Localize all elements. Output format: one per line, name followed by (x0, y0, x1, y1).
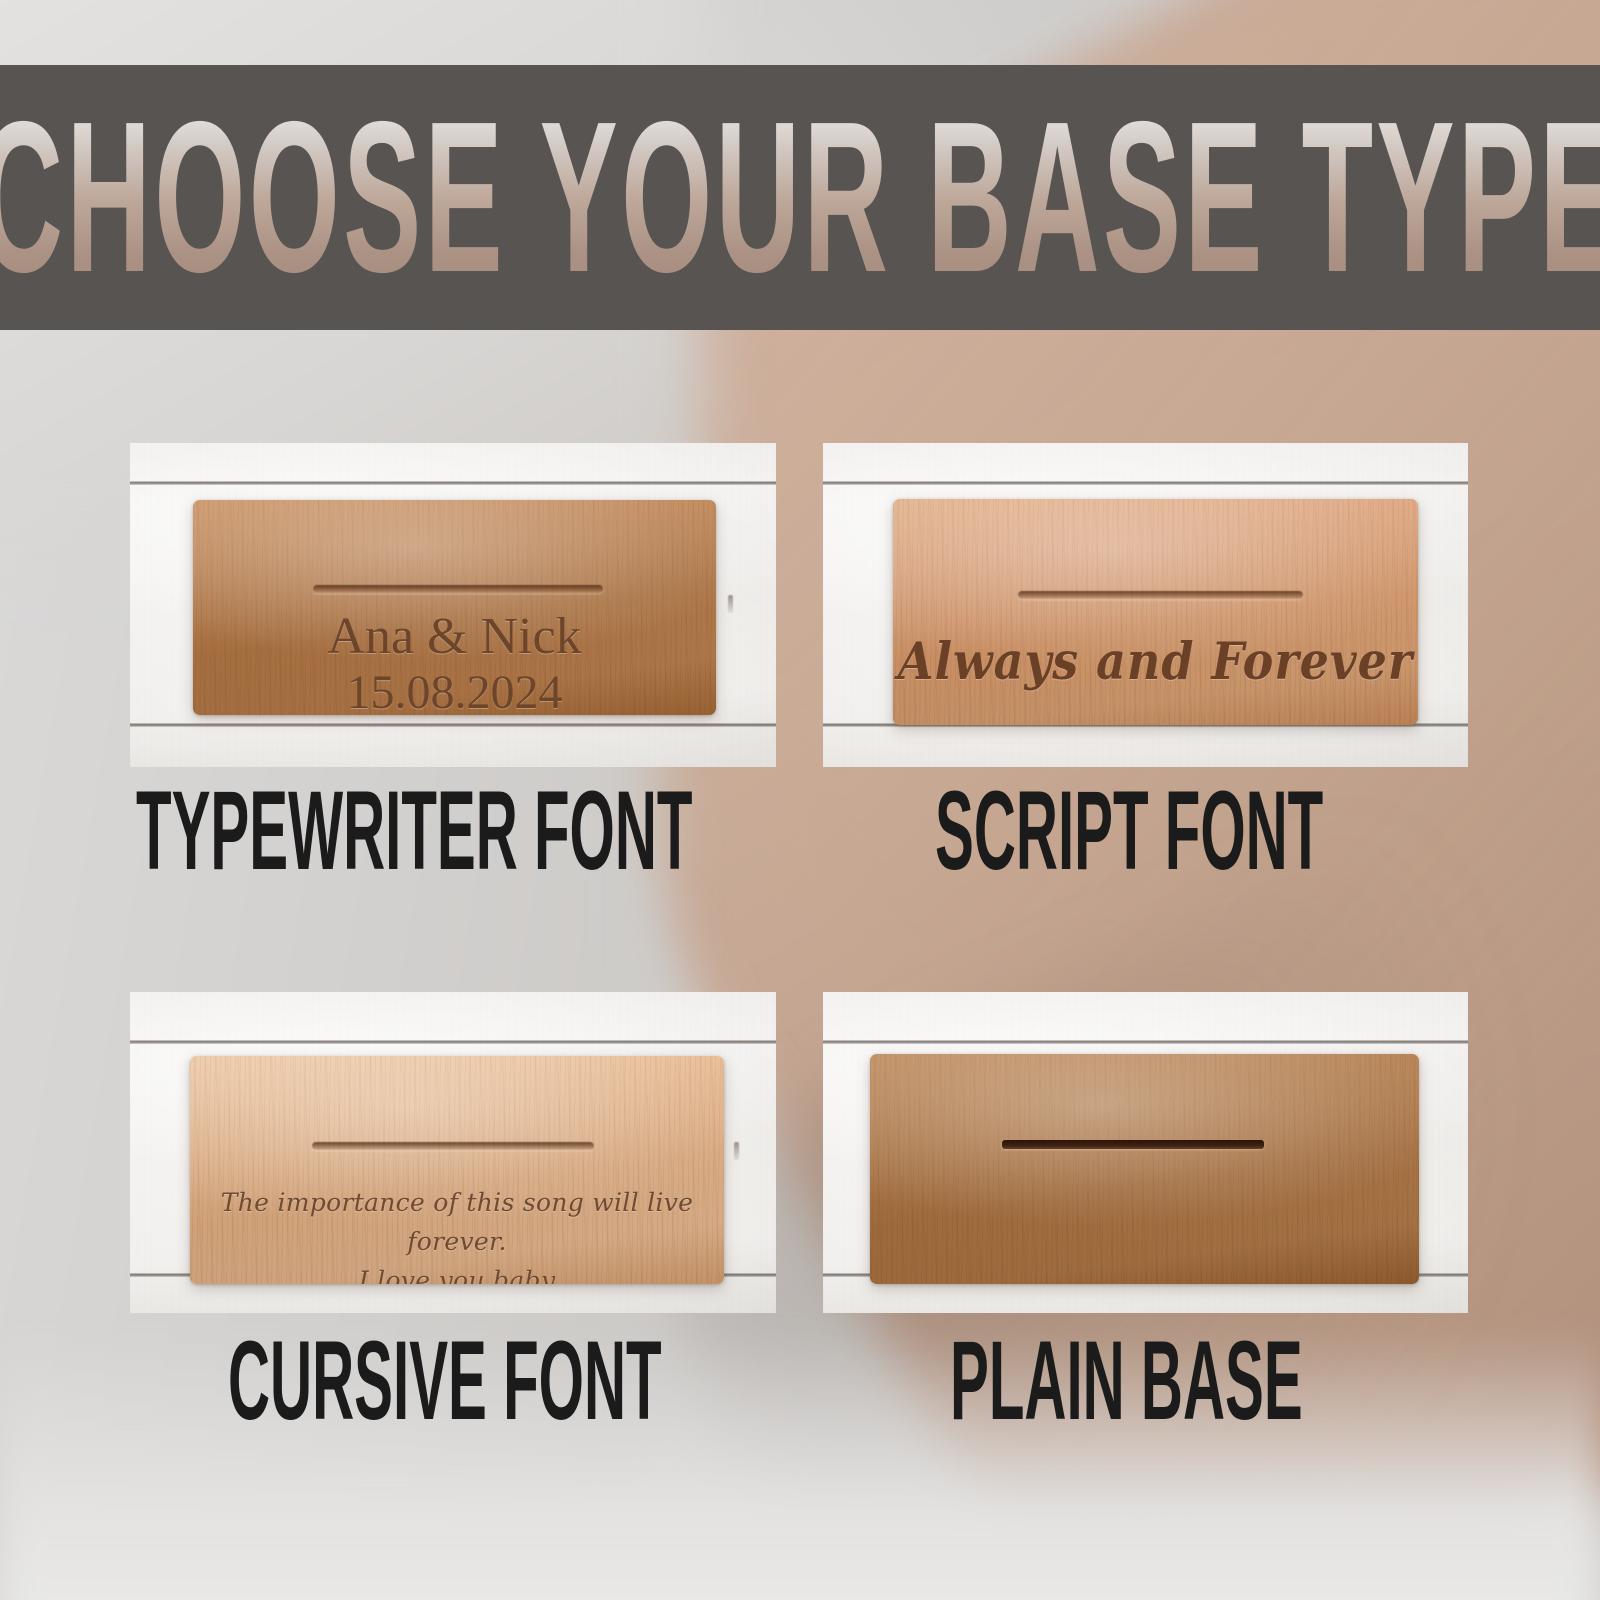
wooden-base-script: Always and Forever (893, 499, 1418, 725)
wood-sheen (870, 1054, 1419, 1284)
engraving-line-1: Ana & Nick (193, 608, 716, 666)
plank-seam-top (130, 481, 776, 485)
option-label-plain: PLAIN BASE (950, 1325, 1303, 1437)
plank-seam-top (823, 1040, 1468, 1044)
plank-nail (728, 595, 733, 613)
option-label-cursive: CURSIVE FONT (228, 1325, 662, 1437)
disc-slot (313, 585, 603, 593)
option-card-typewriter[interactable]: Ana & Nick 15.08.2024 (130, 443, 776, 767)
page-title: CHOOSE YOUR BASE TYPE (0, 105, 1600, 290)
wooden-base-plain (870, 1054, 1419, 1284)
plank-seam-top (823, 481, 1468, 485)
option-card-script[interactable]: Always and Forever (823, 443, 1468, 767)
wooden-base-typewriter: Ana & Nick 15.08.2024 (193, 500, 716, 715)
header-banner: CHOOSE YOUR BASE TYPE (0, 65, 1600, 330)
engraving-cursive: The importance of this song will live fo… (190, 1184, 724, 1284)
plank-seam-bottom (130, 723, 776, 727)
option-label-script: SCRIPT FONT (935, 775, 1323, 887)
engraving-line-1: Always and Forever (893, 631, 1418, 691)
option-label-typewriter: TYPEWRITER FONT (136, 775, 692, 887)
engraving-typewriter: Ana & Nick 15.08.2024 (193, 608, 716, 715)
engraving-line-2: 15.08.2024 (193, 666, 716, 715)
option-card-cursive[interactable]: The importance of this song will live fo… (130, 992, 776, 1313)
disc-slot (312, 1142, 594, 1150)
plank-nail (734, 1142, 739, 1160)
engraving-line-2: I love you baby (190, 1262, 724, 1285)
engraving-line-1: The importance of this song will live fo… (190, 1184, 724, 1262)
disc-slot (1018, 591, 1303, 599)
plank-seam-top (130, 1040, 776, 1044)
option-card-plain[interactable] (823, 992, 1468, 1313)
disc-slot (1002, 1140, 1264, 1149)
engraving-script: Always and Forever (893, 631, 1418, 691)
wooden-base-cursive: The importance of this song will live fo… (190, 1056, 724, 1284)
